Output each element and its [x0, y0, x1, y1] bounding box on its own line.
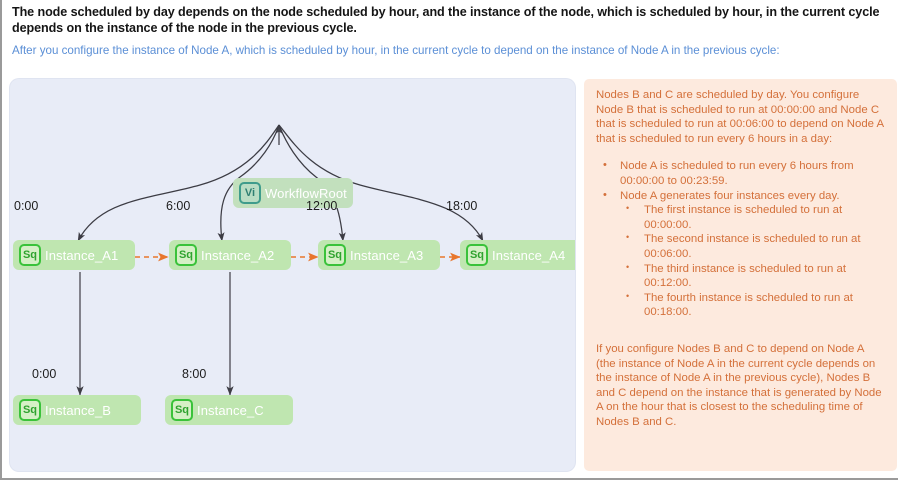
time-label-a2: 6:00 — [166, 199, 190, 213]
list-item: Node A generates four instances every da… — [596, 189, 886, 320]
page-title: The node scheduled by day depends on the… — [12, 4, 896, 36]
node-label: Instance_A3 — [350, 248, 423, 263]
time-label-a4: 18:00 — [446, 199, 477, 213]
notes-closing: If you configure Nodes B and C to depend… — [596, 342, 886, 430]
sub-bullet-text: The second instance is scheduled to run … — [644, 233, 861, 260]
node-instance-a2[interactable]: Sq Instance_A2 — [169, 240, 291, 270]
notes-intro: Nodes B and C are scheduled by day. You … — [596, 88, 886, 146]
notes-panel: Nodes B and C are scheduled by day. You … — [584, 79, 897, 471]
bullet-text: Node A is scheduled to run every 6 hours… — [620, 160, 854, 187]
node-label: Instance_A4 — [492, 248, 565, 263]
node-label: Instance_B — [45, 403, 111, 418]
notes-bullet-list: Node A is scheduled to run every 6 hours… — [596, 159, 886, 320]
bullet-text: Node A generates four instances every da… — [620, 190, 840, 202]
sub-bullet-text: The first instance is scheduled to run a… — [644, 204, 842, 231]
node-label: Instance_A1 — [45, 248, 118, 263]
node-instance-c[interactable]: Sq Instance_C — [165, 395, 293, 425]
sq-badge-icon: Sq — [171, 399, 193, 421]
node-label: Instance_A2 — [201, 248, 274, 263]
sq-badge-icon: Sq — [19, 244, 41, 266]
sq-badge-icon: Sq — [19, 399, 41, 421]
list-item: The third instance is scheduled to run a… — [620, 262, 886, 291]
node-instance-a4[interactable]: Sq Instance_A4 — [460, 240, 575, 270]
page-subtitle: After you configure the instance of Node… — [12, 43, 896, 58]
sq-badge-icon: Sq — [466, 244, 488, 266]
sq-badge-icon: Sq — [324, 244, 346, 266]
list-item: The first instance is scheduled to run a… — [620, 203, 886, 232]
list-item: Node A is scheduled to run every 6 hours… — [596, 159, 886, 188]
time-label-c: 8:00 — [182, 367, 206, 381]
vi-badge-icon: Vi — [239, 182, 261, 204]
sub-bullet-text: The third instance is scheduled to run a… — [644, 263, 846, 290]
time-label-a1: 0:00 — [14, 199, 38, 213]
list-item: The second instance is scheduled to run … — [620, 232, 886, 261]
diagram-panel: Vi WorkflowRoot 0:00 6:00 12:00 18:00 Sq… — [10, 79, 575, 471]
node-instance-b[interactable]: Sq Instance_B — [13, 395, 141, 425]
list-item: The fourth instance is scheduled to run … — [620, 291, 886, 320]
sq-badge-icon: Sq — [175, 244, 197, 266]
time-label-a3: 12:00 — [306, 199, 337, 213]
notes-sub-bullet-list: The first instance is scheduled to run a… — [620, 203, 886, 320]
node-instance-a3[interactable]: Sq Instance_A3 — [318, 240, 440, 270]
node-instance-a1[interactable]: Sq Instance_A1 — [13, 240, 135, 270]
time-label-b: 0:00 — [32, 367, 56, 381]
header: The node scheduled by day depends on the… — [12, 4, 896, 58]
node-label: Instance_C — [197, 403, 264, 418]
screenshot-root: The node scheduled by day depends on the… — [2, 0, 898, 480]
sub-bullet-text: The fourth instance is scheduled to run … — [644, 292, 853, 319]
